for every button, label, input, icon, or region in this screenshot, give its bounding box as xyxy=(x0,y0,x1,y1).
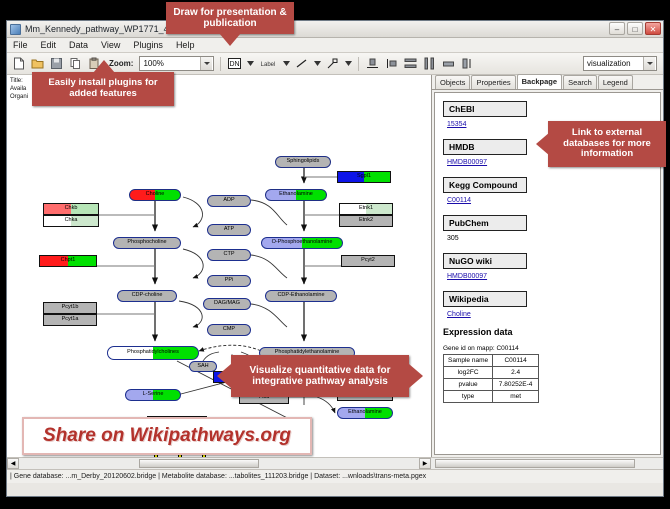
save-icon[interactable] xyxy=(49,56,64,71)
gene-pcyt2[interactable]: Pcyt2 xyxy=(341,255,395,267)
node-ppi[interactable]: PPi xyxy=(207,275,251,287)
expr-key-pvalue: pvalue xyxy=(444,379,493,391)
node-cdp-ethanolamine[interactable]: CDP-Ethanolamine xyxy=(265,290,337,302)
node-label: Ethanolamine xyxy=(348,410,382,416)
node-choline[interactable]: Choline xyxy=(129,189,181,201)
db-link-wikipedia[interactable]: Choline xyxy=(447,311,660,318)
label-dropdown-icon[interactable] xyxy=(282,56,290,71)
gene-label: Chpt1 xyxy=(61,258,76,264)
new-file-icon[interactable] xyxy=(11,56,26,71)
expr-key-log2fc: log2FC xyxy=(444,367,493,379)
table-row: pvalue 7.80252E-4 xyxy=(444,379,539,391)
node-label: PPi xyxy=(225,278,234,284)
tab-backpage[interactable]: Backpage xyxy=(517,74,562,89)
tab-search[interactable]: Search xyxy=(563,75,597,89)
gene-pcyt1a[interactable]: Pcyt1a xyxy=(43,314,97,326)
node-ethanolamine[interactable]: Ethanolamine xyxy=(265,189,327,201)
node-label: Ethanolamine xyxy=(279,192,313,198)
gene-chkb[interactable]: Chkb xyxy=(43,203,99,215)
datanode-dropdown-icon[interactable] xyxy=(246,56,254,71)
distribute-vertical-icon[interactable] xyxy=(403,56,418,71)
screenshot-root: Mm_Kennedy_pathway_WP1771_45176.gpml – □… xyxy=(0,0,670,509)
expr-value-sample-name: C00114 xyxy=(493,355,539,367)
node-label: CMP xyxy=(223,327,235,333)
line-dropdown-icon[interactable] xyxy=(313,56,321,71)
table-row: type met xyxy=(444,391,539,403)
db-header-pubchem: PubChem xyxy=(443,215,527,231)
db-header-kegg-compound: Kegg Compound xyxy=(443,177,527,193)
menu-item-data[interactable]: Data xyxy=(67,40,90,50)
gene-label: Chkb xyxy=(65,206,78,212)
svg-text:DN: DN xyxy=(230,61,240,68)
zoom-combobox[interactable]: 100% xyxy=(139,56,214,71)
node-label: Phosphocholine xyxy=(127,240,166,246)
db-link-kegg-compound[interactable]: C00114 xyxy=(447,197,660,204)
receptor-dropdown-icon[interactable] xyxy=(344,56,352,71)
maximize-button[interactable]: □ xyxy=(627,22,643,35)
svg-text:Label: Label xyxy=(261,62,276,68)
db-header-hmdb: HMDB xyxy=(443,139,527,155)
callout-draw-arrow-icon xyxy=(219,33,241,46)
chevron-down-icon-2[interactable] xyxy=(643,57,655,70)
gene-label: Sgpl1 xyxy=(357,174,371,180)
menu-item-help[interactable]: Help xyxy=(174,40,197,50)
node-label: ADP xyxy=(223,198,234,204)
pathway-canvas-pane[interactable]: Title: Availa Organi xyxy=(7,75,432,457)
node-label: DAG/MAG xyxy=(214,301,240,307)
node-label: ATP xyxy=(224,227,234,233)
line-icon[interactable] xyxy=(294,56,309,71)
gene-label: Pcyt2 xyxy=(361,258,375,264)
receptor-icon[interactable] xyxy=(325,56,340,71)
gene-etnk1[interactable]: Etnk1 xyxy=(339,203,393,215)
app-icon xyxy=(10,24,21,35)
gene-label: Etnk2 xyxy=(359,218,373,224)
status-bar: | Gene database: ...m_Derby_20120602.bri… xyxy=(7,469,663,483)
node-label: L-Serine xyxy=(143,392,164,398)
expression-data-heading: Expression data xyxy=(443,327,660,337)
expression-table: Sample name C00114 log2FC 2.4 pvalue 7.8… xyxy=(443,354,539,403)
gene-pcyt1b[interactable]: Pcyt1b xyxy=(43,302,97,314)
tab-properties[interactable]: Properties xyxy=(471,75,515,89)
node-dag-mag[interactable]: DAG/MAG xyxy=(203,298,251,310)
callout-visualize-arrow-right-icon xyxy=(409,364,423,388)
gene-chpt1[interactable]: Chpt1 xyxy=(39,255,97,267)
toolbar-separator-2 xyxy=(358,57,359,71)
gene-label: Chka xyxy=(65,218,78,224)
db-link-nugo-wiki[interactable]: HMDB00097 xyxy=(447,273,660,280)
info-organism-label: Organi xyxy=(10,93,28,101)
node-label: Phosphatidylcholines xyxy=(127,350,179,356)
callout-draw: Draw for presentation & publication xyxy=(166,2,294,34)
copy-icon[interactable] xyxy=(68,56,83,71)
close-button[interactable]: ✕ xyxy=(645,22,661,35)
callout-plugins-arrow-icon xyxy=(93,60,115,73)
node-ctp[interactable]: CTP xyxy=(207,249,251,261)
callout-plugins: Easily install plugins for added feature… xyxy=(32,72,174,106)
label-icon[interactable]: Label xyxy=(258,56,278,71)
scroll-thumb[interactable] xyxy=(139,459,259,468)
align-top-icon[interactable] xyxy=(365,56,380,71)
gene-etnk2[interactable]: Etnk2 xyxy=(339,215,393,227)
side-panel-scroll-thumb[interactable] xyxy=(435,459,635,468)
callout-share: Share on Wikipathways.org xyxy=(22,417,312,455)
zoom-value: 100% xyxy=(143,59,163,68)
window-controls[interactable]: – □ ✕ xyxy=(609,22,661,35)
minimize-button[interactable]: – xyxy=(609,22,625,35)
callout-link-arrow-icon xyxy=(536,132,550,156)
node-adp[interactable]: ADP xyxy=(207,195,251,207)
title-bar: Mm_Kennedy_pathway_WP1771_45176.gpml – □… xyxy=(7,21,663,38)
same-height-icon[interactable] xyxy=(460,56,475,71)
node-phosphocholine[interactable]: Phosphocholine xyxy=(113,237,181,249)
node-label: CTP xyxy=(224,252,235,258)
node-label: Sphingolipids xyxy=(287,159,320,165)
node-sphingolipids[interactable]: Sphingolipids xyxy=(275,156,331,168)
chevron-down-icon[interactable] xyxy=(200,57,212,70)
db-value-pubchem: 305 xyxy=(447,235,660,242)
callout-visualize: Visualize quantitative data for integrat… xyxy=(231,355,409,397)
info-availability-label: Availa xyxy=(10,85,28,93)
callout-visualize-arrow-left-icon xyxy=(217,364,231,388)
visualization-value: visualization xyxy=(587,59,631,68)
db-header-chebi: ChEBI xyxy=(443,101,527,117)
pathway-info-labels: Title: Availa Organi xyxy=(10,77,28,101)
datanode-icon[interactable]: DN xyxy=(227,56,242,71)
node-label: SAH xyxy=(197,364,208,370)
node-cmp[interactable]: CMP xyxy=(207,324,251,336)
expr-key-sample-name: Sample name xyxy=(444,355,493,367)
menu-item-file[interactable]: File xyxy=(11,40,30,50)
node-label: O-Phosphoethanolamine xyxy=(272,240,333,246)
gene-label: Etnk1 xyxy=(359,206,373,212)
toolbar-separator xyxy=(220,57,221,71)
expr-value-log2fc: 2.4 xyxy=(493,367,539,379)
node-label: Choline xyxy=(146,192,165,198)
align-left-icon[interactable] xyxy=(384,56,399,71)
menu-bar: File Edit Data View Plugins Help xyxy=(7,38,663,53)
scroll-left-button[interactable]: ◀ xyxy=(7,458,19,469)
db-header-wikipedia: Wikipedia xyxy=(443,291,527,307)
open-folder-icon[interactable] xyxy=(30,56,45,71)
gene-sgpl1[interactable]: Sgpl1 xyxy=(337,171,391,183)
scroll-right-button[interactable]: ▶ xyxy=(419,458,431,469)
table-row: Sample name C00114 xyxy=(444,355,539,367)
db-header-nugo-wiki: NuGO wiki xyxy=(443,253,527,269)
status-text: | Gene database: ...m_Derby_20120602.bri… xyxy=(10,473,426,480)
gene-label: Pcyt1a xyxy=(62,317,79,323)
node-label: CDP-choline xyxy=(132,293,163,299)
menu-item-plugins[interactable]: Plugins xyxy=(131,40,165,50)
tab-objects[interactable]: Objects xyxy=(435,75,470,89)
horizontal-scrollbar[interactable]: ◀ ▶ xyxy=(7,457,663,469)
scroll-track[interactable] xyxy=(19,459,419,468)
expr-value-pvalue: 7.80252E-4 xyxy=(493,379,539,391)
menu-item-view[interactable]: View xyxy=(99,40,122,50)
callout-link: Link to external databases for more info… xyxy=(548,121,666,167)
gene-label: Pcyt1b xyxy=(62,305,79,311)
expr-value-type: met xyxy=(493,391,539,403)
gene-chka[interactable]: Chka xyxy=(43,215,99,227)
same-width-icon[interactable] xyxy=(441,56,456,71)
side-panel-tabs: Objects Properties Backpage Search Legen… xyxy=(432,75,663,90)
menu-item-edit[interactable]: Edit xyxy=(39,40,59,50)
table-row: log2FC 2.4 xyxy=(444,367,539,379)
distribute-horizontal-icon[interactable] xyxy=(422,56,437,71)
node-ethanolamine-right[interactable]: Ethanolamine xyxy=(337,407,393,419)
node-label: CDP-Ethanolamine xyxy=(277,293,324,299)
expr-key-type: type xyxy=(444,391,493,403)
info-title-label: Title: xyxy=(10,77,28,85)
node-o-phosphoethanolamine[interactable]: O-Phosphoethanolamine xyxy=(261,237,343,249)
node-l-serine-left[interactable]: L-Serine xyxy=(125,389,181,401)
gene-id-label: Gene id on mapp: C00114 xyxy=(443,345,660,352)
node-phosphatidylcholines[interactable]: Phosphatidylcholines xyxy=(107,346,199,360)
node-cdp-choline[interactable]: CDP-choline xyxy=(117,290,177,302)
visualization-combobox[interactable]: visualization xyxy=(583,56,657,71)
node-atp[interactable]: ATP xyxy=(207,224,251,236)
tab-legend[interactable]: Legend xyxy=(598,75,633,89)
